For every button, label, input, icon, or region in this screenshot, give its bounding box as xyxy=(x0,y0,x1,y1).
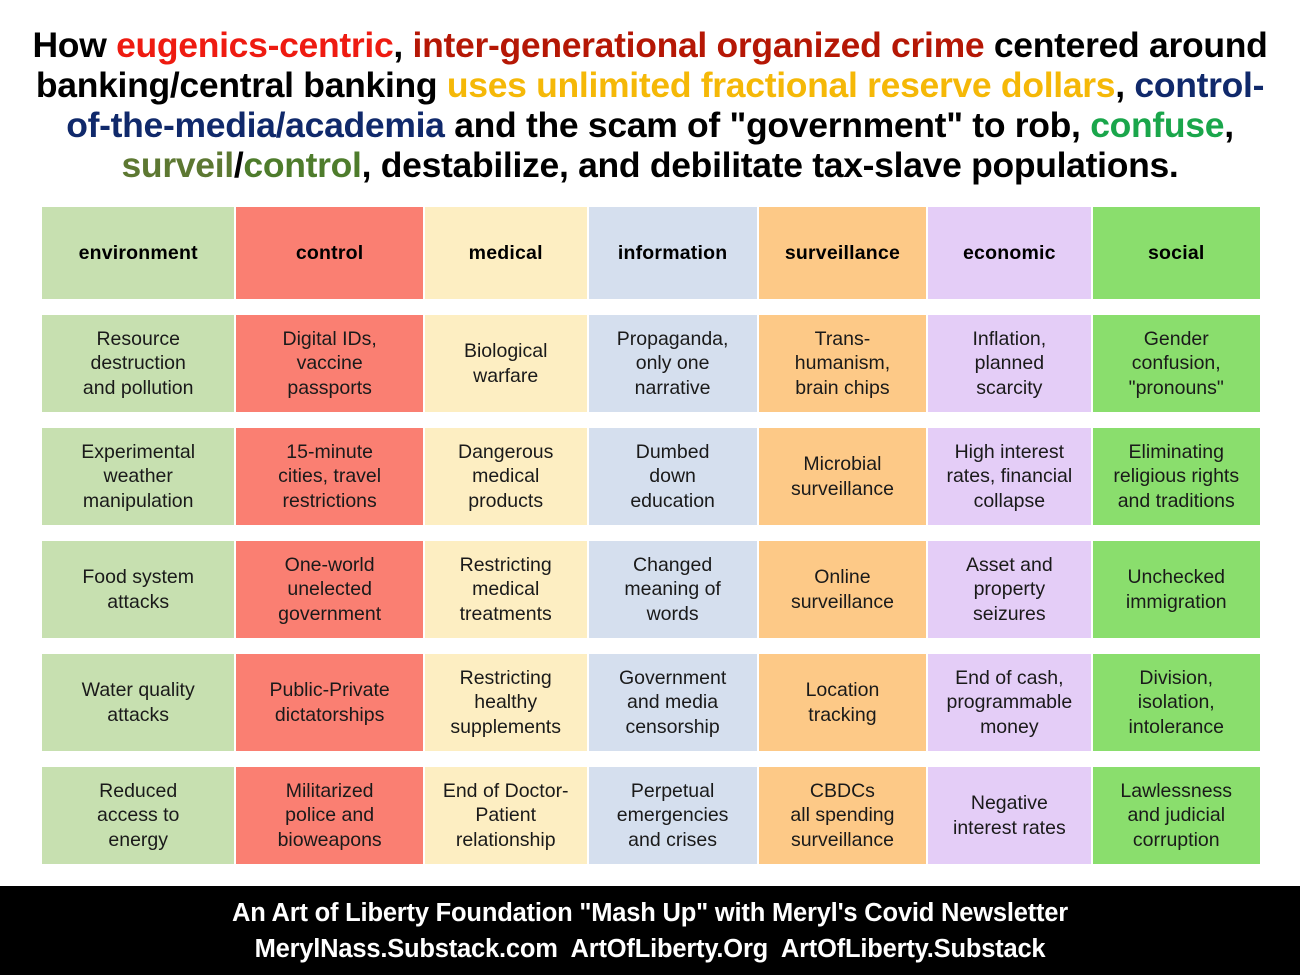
cell-information-3: Changed meaning of words xyxy=(589,541,757,638)
header-cell-control: control xyxy=(236,207,423,299)
cell-social-1: Gender confusion, "pronouns" xyxy=(1093,315,1260,412)
cell-control-4: Public-Private dictatorships xyxy=(236,654,423,751)
cell-surveillance-4: Location tracking xyxy=(759,654,926,751)
cell-surveillance-2: Microbial surveillance xyxy=(759,428,926,525)
cell-social-4: Division, isolation, intolerance xyxy=(1093,654,1260,751)
cell-social-5: Lawlessness and judicial corruption xyxy=(1093,767,1260,864)
title-seg-eugenics-centric: eugenics-centric xyxy=(116,25,393,65)
cell-economic-4: End of cash, programmable money xyxy=(928,654,1090,751)
header-cell-medical: medical xyxy=(425,207,587,299)
table-body: Resource destruction and pollutionDigita… xyxy=(42,315,1260,864)
cell-control-2: 15-minute cities, travel restrictions xyxy=(236,428,423,525)
title-text: How eugenics-centric, inter-generational… xyxy=(20,25,1280,185)
cell-medical-2: Dangerous medical products xyxy=(425,428,587,525)
cell-environment-2: Experimental weather manipulation xyxy=(42,428,234,525)
cell-control-3: One-world unelected government xyxy=(236,541,423,638)
cell-medical-1: Biological warfare xyxy=(425,315,587,412)
title-seg-surveil: surveil xyxy=(121,145,233,185)
cell-medical-4: Restricting healthy supplements xyxy=(425,654,587,751)
cell-environment-4: Water quality attacks xyxy=(42,654,234,751)
header-cell-information: information xyxy=(589,207,757,299)
cell-environment-1: Resource destruction and pollution xyxy=(42,315,234,412)
table-row: Food system attacksOne-world unelected g… xyxy=(42,541,1260,638)
cell-environment-5: Reduced access to energy xyxy=(42,767,234,864)
cell-information-5: Perpetual emergencies and crises xyxy=(589,767,757,864)
title-seg-scam-of-government: and the scam of "government" to rob, xyxy=(445,105,1091,145)
cell-surveillance-1: Trans- humanism, brain chips xyxy=(759,315,926,412)
header-cell-environment: environment xyxy=(42,207,234,299)
category-table: environmentcontrolmedicalinformationsurv… xyxy=(0,207,1300,864)
cell-medical-5: End of Doctor- Patient relationship xyxy=(425,767,587,864)
cell-medical-3: Restricting medical treatments xyxy=(425,541,587,638)
table-row: Water quality attacksPublic-Private dict… xyxy=(42,654,1260,751)
cell-social-3: Unchecked immigration xyxy=(1093,541,1260,638)
title-seg-control: control xyxy=(243,145,361,185)
cell-social-2: Eliminating religious rights and traditi… xyxy=(1093,428,1260,525)
header-cell-surveillance: surveillance xyxy=(759,207,926,299)
title-seg-how: How xyxy=(32,25,116,65)
table-header-row: environmentcontrolmedicalinformationsurv… xyxy=(42,207,1260,299)
footer-line-1: An Art of Liberty Foundation "Mash Up" w… xyxy=(232,895,1068,931)
title-seg-comma-2: , xyxy=(1115,65,1134,105)
cell-economic-5: Negative interest rates xyxy=(928,767,1090,864)
cell-economic-1: Inflation, planned scarcity xyxy=(928,315,1090,412)
table-row: Resource destruction and pollutionDigita… xyxy=(42,315,1260,412)
title-seg-confuse: confuse xyxy=(1090,105,1224,145)
title-seg-uses-unlimited-fractional-reserve-dollars: uses unlimited fractional reserve dollar… xyxy=(447,65,1115,105)
title-seg-comma-3: , xyxy=(1224,105,1234,145)
header-cell-economic: economic xyxy=(928,207,1090,299)
cell-surveillance-5: CBDCs all spending surveillance xyxy=(759,767,926,864)
table-row: Reduced access to energyMilitarized poli… xyxy=(42,767,1260,864)
footer-line-2: MerylNass.Substack.com ArtOfLiberty.Org … xyxy=(255,931,1046,967)
title-seg-inter-generational-organized-crime: inter-generational organized crime xyxy=(413,25,985,65)
cell-control-1: Digital IDs, vaccine passports xyxy=(236,315,423,412)
header-cell-social: social xyxy=(1093,207,1260,299)
cell-economic-2: High interest rates, financial collapse xyxy=(928,428,1090,525)
cell-information-4: Government and media censorship xyxy=(589,654,757,751)
infographic-page: How eugenics-centric, inter-generational… xyxy=(0,0,1300,975)
title-seg-destabilize: , destabilize, and debilitate tax-slave … xyxy=(362,145,1179,185)
footer-banner: An Art of Liberty Foundation "Mash Up" w… xyxy=(0,886,1300,975)
cell-economic-3: Asset and property seizures xyxy=(928,541,1090,638)
table-row: Experimental weather manipulation15-minu… xyxy=(42,428,1260,525)
cell-information-2: Dumbed down education xyxy=(589,428,757,525)
title-seg-slash: / xyxy=(234,145,244,185)
cell-information-1: Propaganda, only one narrative xyxy=(589,315,757,412)
page-title: How eugenics-centric, inter-generational… xyxy=(0,0,1300,207)
cell-environment-3: Food system attacks xyxy=(42,541,234,638)
cell-surveillance-3: Online surveillance xyxy=(759,541,926,638)
cell-control-5: Militarized police and bioweapons xyxy=(236,767,423,864)
title-seg-comma-1: , xyxy=(393,25,412,65)
